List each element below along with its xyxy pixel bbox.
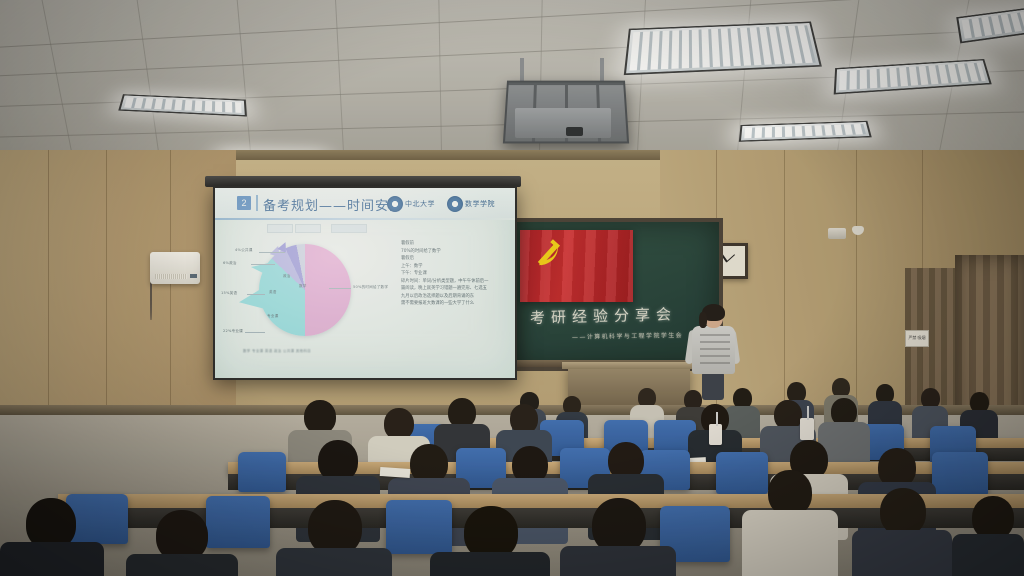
wall-sign: 严禁 吸烟 — [905, 330, 929, 347]
slide-section-badge: 2 — [237, 196, 251, 210]
pie-exploded-slice — [239, 284, 269, 310]
pie-label: 22%专业课 — [223, 329, 243, 334]
student — [430, 506, 550, 576]
wall-speaker — [150, 252, 200, 284]
drink-straw — [807, 406, 809, 420]
slide-header-rule — [215, 218, 515, 220]
university-logo-1: 中北大学 — [387, 196, 435, 212]
pie-label: 政治 — [283, 274, 291, 279]
presenter-hair — [699, 312, 707, 328]
pie-label: 6%政治 — [223, 261, 237, 266]
blackboard-chalk-title: 考研经验分享会 — [530, 303, 690, 328]
pie-label: 数学 — [299, 284, 307, 289]
university-logo-1-text: 中北大学 — [405, 199, 435, 209]
slide-body-line: 碎片时间：单词/分析类型题，中午午休前后一 — [401, 278, 509, 286]
slide-body-line: 暑假后 — [401, 255, 509, 263]
slide-body-line: 篇阅读，晚上就英学习错题一遍完形、七选五 — [401, 285, 509, 293]
pie-label: 4%公共课 — [235, 248, 252, 253]
pie-label: 15%英语 — [221, 291, 237, 296]
lecture-hall-photo: 严禁 吸烟 考研经验分享会 ——计算机科学与工程学院学生会 2 备考规划——时间… — [0, 0, 1024, 576]
slide-body-line: 需不需要报班大数课的一些大学了什么 — [401, 300, 509, 308]
slide-body-line: 暑假前 — [401, 240, 509, 248]
slide-title-divider — [256, 195, 258, 211]
projector-lens — [566, 127, 583, 136]
pie-label: 50%的时间给了数学 — [353, 285, 388, 290]
student — [852, 488, 952, 576]
slide-toolbar-strip — [267, 224, 367, 233]
slide-toolbar-cell — [267, 224, 293, 233]
presentation-slide: 2 备考规划——时间安排 中北大学 数学学院 — [215, 188, 515, 378]
slide-body-line: 70%的时间给了数学 — [401, 248, 509, 256]
slide-toolbar-cell — [331, 224, 367, 233]
hammer-and-sickle-icon — [532, 238, 566, 270]
student — [560, 498, 676, 576]
student — [276, 500, 392, 576]
presenter — [690, 306, 736, 398]
projection-screen: 2 备考规划——时间安排 中北大学 数学学院 — [213, 186, 517, 380]
slide-body-line: 下午：专业课 — [401, 270, 509, 278]
pie-label: 专业课 — [267, 314, 278, 319]
student — [0, 498, 104, 576]
slide-body-line: 上午：数学 — [401, 263, 509, 271]
university-seal-icon — [447, 196, 463, 212]
pie-chart: 50%的时间给了数学 数学 22%专业课 专业课 15%英语 英语 6%政治 4… — [221, 236, 391, 358]
student — [952, 496, 1024, 576]
podium-top — [562, 362, 696, 369]
speaker-led-icon — [190, 274, 197, 278]
clock-minute-hand — [726, 254, 735, 262]
slide-body-text: 暑假前 70%的时间给了数学 暑假后 上午：数学 下午：专业课 碎片时间：单词/… — [401, 240, 509, 308]
pie-chart-legend: 数学 专业课 英语 政治 公共课 其他科目 — [243, 348, 311, 353]
chair[interactable] — [238, 452, 286, 492]
drink-straw — [716, 412, 718, 426]
presenter-torso — [692, 326, 735, 374]
slide-toolbar-cell — [295, 224, 321, 233]
air-vent — [828, 228, 846, 239]
ceiling-projector — [515, 108, 611, 138]
speaker-grille — [155, 274, 187, 279]
university-seal-icon — [387, 196, 403, 212]
drink-cup — [800, 418, 814, 440]
university-logo-2: 数学学院 — [447, 196, 495, 212]
student — [126, 510, 238, 576]
pie-label: 英语 — [269, 290, 277, 295]
slide-title: 备考规划——时间安排 — [263, 195, 403, 214]
student — [742, 470, 838, 576]
university-logo-2-text: 数学学院 — [465, 199, 495, 209]
drink-cup — [709, 424, 722, 445]
ceiling-light — [624, 22, 822, 76]
slide-body-line: 九月以后政治选择题以及后期背诵的东 — [401, 293, 509, 301]
